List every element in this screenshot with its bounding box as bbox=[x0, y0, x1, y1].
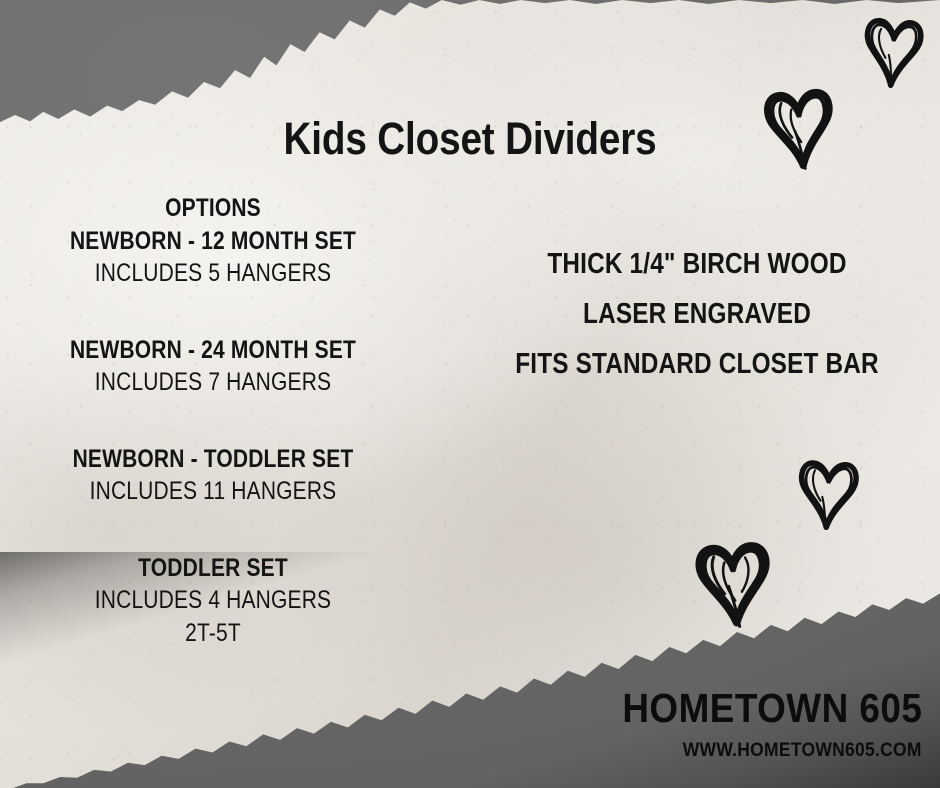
poster-content: Kids Closet Dividers OPTIONS NEWBORN - 1… bbox=[0, 0, 940, 788]
set-3-name: NEWBORN - TODDLER SET bbox=[41, 443, 385, 476]
spec-fit: FITS STANDARD CLOSET BAR bbox=[500, 340, 895, 390]
set-4-detail: INCLUDES 4 HANGERS bbox=[41, 584, 385, 617]
set-2-detail: INCLUDES 7 HANGERS bbox=[41, 366, 385, 399]
set-4-name: TODDLER SET bbox=[41, 552, 385, 585]
spec-process: LASER ENGRAVED bbox=[500, 290, 895, 340]
set-1-name: NEWBORN - 12 MONTH SET bbox=[41, 225, 385, 258]
brand-name: HOMETOWN 605 bbox=[622, 685, 922, 732]
specs-column: THICK 1/4" BIRCH WOOD LASER ENGRAVED FIT… bbox=[462, 240, 932, 390]
set-4-extra: 2T-5T bbox=[41, 617, 385, 650]
heart-doodle-icon bbox=[751, 82, 850, 174]
heart-doodle-icon bbox=[786, 454, 870, 534]
spacer bbox=[8, 290, 418, 334]
heart-doodle-icon bbox=[683, 537, 785, 631]
spec-material: THICK 1/4" BIRCH WOOD bbox=[500, 240, 895, 290]
options-heading: OPTIONS bbox=[41, 192, 385, 225]
brand-website: WWW.HOMETOWN605.COM bbox=[683, 740, 922, 762]
heart-doodle-icon bbox=[849, 11, 936, 93]
poster: Kids Closet Dividers OPTIONS NEWBORN - 1… bbox=[0, 0, 940, 788]
set-2-name: NEWBORN - 24 MONTH SET bbox=[41, 334, 385, 367]
options-column: OPTIONS NEWBORN - 12 MONTH SET INCLUDES … bbox=[8, 192, 418, 649]
spacer bbox=[8, 508, 418, 552]
set-1-detail: INCLUDES 5 HANGERS bbox=[41, 257, 385, 290]
set-3-detail: INCLUDES 11 HANGERS bbox=[41, 475, 385, 508]
spacer bbox=[8, 399, 418, 443]
